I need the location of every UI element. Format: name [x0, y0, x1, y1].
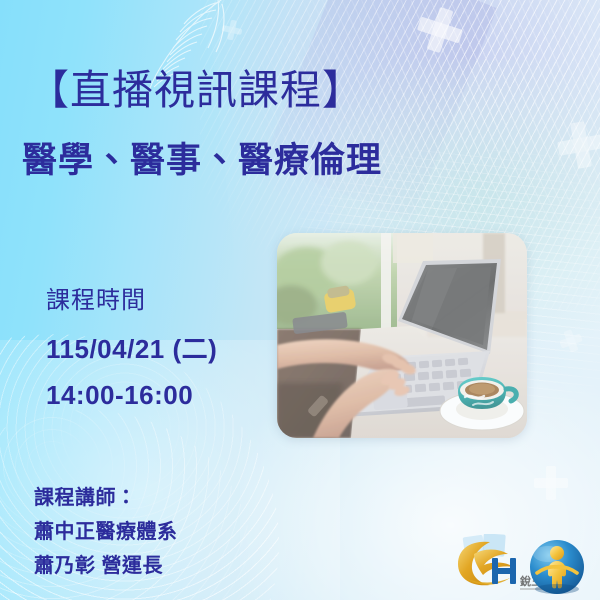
medical-cross-icon [557, 327, 585, 355]
course-poster: 【直播視訊課程】 醫學、醫事、醫療倫理 [0, 0, 600, 600]
schedule-block: 課程時間 115/04/21 (二) 14:00-16:00 [46, 280, 217, 411]
laptop-typing-photo [277, 233, 527, 438]
speaker-label: 課程講師： [34, 488, 178, 508]
page-title: 【直播視訊課程】 [28, 56, 364, 116]
schedule-time: 14:00-16:00 [46, 380, 217, 411]
logo-group-illustration: 銳三 [452, 534, 594, 596]
schedule-date: 115/04/21 (二) [46, 329, 217, 366]
speaker-block: 課程講師： 蕭中正醫療體系 蕭乃彰 營運長 [34, 488, 178, 576]
medical-cross-icon [412, 2, 467, 57]
schedule-label: 課程時間 [46, 280, 217, 315]
diagonal-line-pattern-icon [260, 0, 600, 260]
page-subtitle: 醫學、醫事、醫療倫理 [22, 132, 382, 183]
speaker-name: 蕭乃彰 營運長 [34, 556, 178, 576]
blue-circle-figure-logo [530, 540, 584, 594]
medical-cross-icon [534, 466, 568, 500]
medical-cross-icon [220, 18, 244, 42]
medical-cross-icon [554, 118, 600, 171]
laptop-typing-photo-illustration [277, 233, 527, 438]
speaker-organization: 蕭中正醫療體系 [34, 522, 178, 542]
logo-group: 銳三 [452, 534, 594, 596]
